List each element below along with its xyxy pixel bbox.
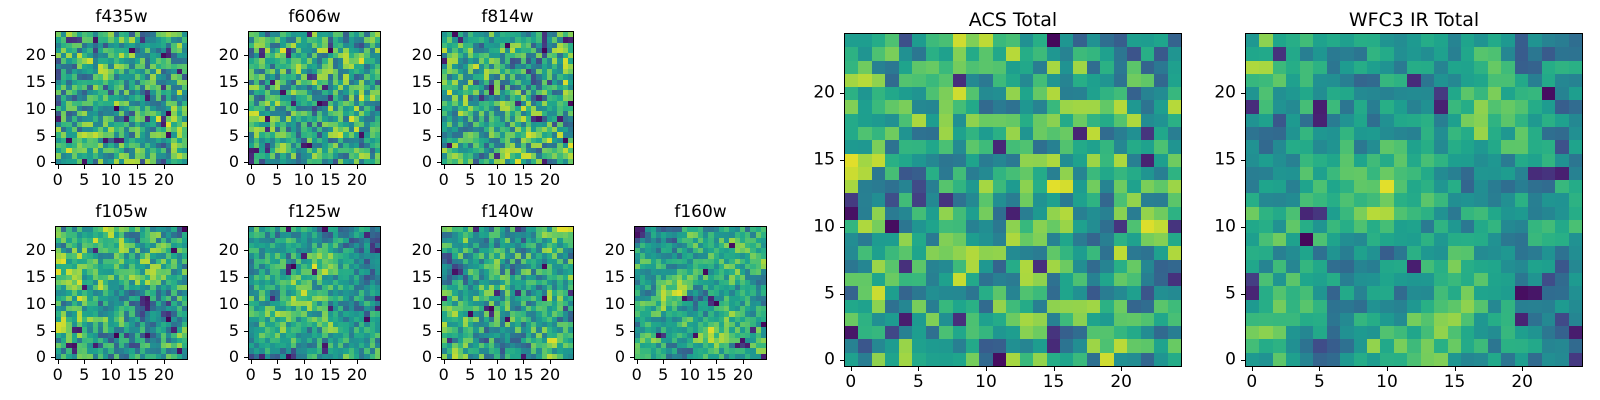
x-tick-label: 15 [127,367,147,383]
x-tick-mark [1252,367,1253,371]
plot-area-f814w [441,31,574,165]
y-tick-label: 5 [196,128,239,144]
plot-area-f160w [634,226,767,360]
y-tick-label: 20 [1193,85,1236,102]
x-tick-mark [918,367,919,371]
y-tick-mark [51,109,55,110]
x-tick-label: 5 [79,172,89,188]
x-tick-mark [690,360,691,364]
panel-f814w: f814w0510152005101520 [389,5,582,195]
y-tick-label: 0 [196,349,239,365]
y-tick-label: 10 [1193,218,1236,235]
y-tick-label: 20 [196,242,239,258]
y-tick-mark [1241,294,1245,295]
heatmap-grid [56,32,187,164]
x-tick-mark [986,367,987,371]
heatmap-grid [442,227,573,359]
y-tick-mark [437,304,441,305]
y-tick-mark [51,55,55,56]
y-tick-label: 15 [1193,151,1236,168]
x-tick-mark [357,165,358,169]
y-tick-mark [630,304,634,305]
panel-wfc3-ir-total: WFC3 IR Total0510152005101520 [1193,7,1591,397]
x-tick-mark [1522,367,1523,371]
plot-area-wfc3-ir-total [1245,33,1583,367]
x-tick-label: 20 [1110,374,1132,391]
x-tick-mark [470,360,471,364]
y-tick-mark [244,82,248,83]
y-tick-label: 0 [389,349,432,365]
y-tick-mark [1241,227,1245,228]
y-tick-mark [1241,93,1245,94]
x-tick-label: 5 [465,367,475,383]
x-tick-label: 10 [101,172,121,188]
y-tick-mark [51,357,55,358]
x-tick-label: 5 [272,172,282,188]
x-tick-label: 0 [1246,374,1257,391]
panel-f435w: f435w0510152005101520 [3,5,196,195]
y-tick-label: 0 [582,349,625,365]
x-tick-label: 0 [53,172,63,188]
x-tick-mark [1121,367,1122,371]
panel-title-f105w: f105w [55,204,188,221]
y-tick-mark [437,109,441,110]
x-tick-mark [1387,367,1388,371]
y-tick-label: 10 [3,296,46,312]
x-tick-mark [523,360,524,364]
x-tick-label: 0 [246,367,256,383]
y-tick-label: 5 [389,128,432,144]
heatmap-grid [635,227,766,359]
plot-area-f435w [55,31,188,165]
x-tick-mark [637,360,638,364]
y-tick-label: 20 [389,242,432,258]
x-tick-label: 0 [439,367,449,383]
x-tick-label: 15 [1444,374,1466,391]
x-tick-mark [304,165,305,169]
y-tick-label: 0 [1193,352,1236,369]
x-tick-mark [1455,367,1456,371]
y-tick-label: 5 [3,323,46,339]
y-tick-mark [51,162,55,163]
x-tick-mark [277,360,278,364]
x-tick-mark [497,360,498,364]
plot-area-f140w [441,226,574,360]
x-tick-label: 15 [513,172,533,188]
x-tick-mark [330,360,331,364]
y-tick-mark [244,250,248,251]
y-tick-label: 5 [1193,285,1236,302]
x-tick-mark [663,360,664,364]
y-tick-mark [244,55,248,56]
x-tick-label: 20 [347,367,367,383]
panel-f105w: f105w0510152005101520 [3,200,196,390]
x-tick-mark [550,360,551,364]
panel-f160w: f160w0510152005101520 [582,200,775,390]
y-tick-mark [51,136,55,137]
y-tick-mark [840,93,844,94]
y-tick-label: 15 [196,269,239,285]
y-tick-mark [437,250,441,251]
y-tick-mark [437,277,441,278]
panel-f606w: f606w0510152005101520 [196,5,389,195]
x-tick-mark [137,360,138,364]
y-tick-label: 0 [792,352,835,369]
panel-title-acs-total: ACS Total [844,11,1182,30]
y-tick-label: 15 [389,269,432,285]
x-tick-label: 0 [246,172,256,188]
y-tick-label: 20 [3,47,46,63]
y-tick-mark [437,55,441,56]
y-tick-label: 15 [3,269,46,285]
x-tick-mark [357,360,358,364]
x-tick-label: 20 [540,367,560,383]
figure-canvas: f435w0510152005101520f606w05101520051015… [0,0,1600,400]
x-tick-label: 20 [154,172,174,188]
x-tick-mark [743,360,744,364]
x-tick-mark [111,360,112,364]
y-tick-mark [51,82,55,83]
x-tick-mark [470,165,471,169]
heatmap-grid [442,32,573,164]
y-tick-label: 15 [196,74,239,90]
y-tick-label: 5 [3,128,46,144]
y-tick-label: 5 [792,285,835,302]
y-tick-label: 20 [792,85,835,102]
y-tick-mark [1241,360,1245,361]
x-tick-mark [251,165,252,169]
heatmap-grid [845,34,1181,366]
heatmap-grid [1246,34,1582,366]
y-tick-mark [244,331,248,332]
panel-f125w: f125w0510152005101520 [196,200,389,390]
x-tick-mark [137,165,138,169]
panel-title-f435w: f435w [55,9,188,26]
plot-area-f606w [248,31,381,165]
x-tick-mark [444,360,445,364]
x-tick-mark [497,165,498,169]
y-tick-label: 10 [389,101,432,117]
x-tick-mark [277,165,278,169]
y-tick-label: 10 [792,218,835,235]
y-tick-mark [244,277,248,278]
x-tick-label: 20 [347,172,367,188]
x-tick-mark [84,165,85,169]
y-tick-mark [630,277,634,278]
y-tick-mark [630,331,634,332]
y-tick-mark [1241,160,1245,161]
y-tick-mark [437,82,441,83]
x-tick-label: 0 [632,367,642,383]
y-tick-mark [437,357,441,358]
y-tick-mark [840,227,844,228]
y-tick-label: 10 [3,101,46,117]
heatmap-grid [249,227,380,359]
x-tick-mark [444,165,445,169]
x-tick-label: 10 [487,172,507,188]
y-tick-label: 10 [196,101,239,117]
x-tick-label: 5 [658,367,668,383]
x-tick-label: 15 [320,172,340,188]
x-tick-label: 15 [513,367,533,383]
plot-area-f105w [55,226,188,360]
y-tick-label: 0 [3,349,46,365]
y-tick-label: 0 [196,154,239,170]
x-tick-mark [523,165,524,169]
y-tick-mark [630,250,634,251]
y-tick-label: 15 [792,151,835,168]
x-tick-label: 15 [127,172,147,188]
y-tick-label: 15 [582,269,625,285]
x-tick-label: 10 [101,367,121,383]
x-tick-label: 5 [913,374,924,391]
x-tick-label: 10 [294,172,314,188]
y-tick-label: 10 [582,296,625,312]
x-tick-label: 10 [487,367,507,383]
y-tick-mark [244,109,248,110]
panel-title-f160w: f160w [634,204,767,221]
y-tick-mark [51,250,55,251]
y-tick-mark [437,162,441,163]
x-tick-mark [550,165,551,169]
y-tick-label: 15 [3,74,46,90]
panel-acs-total: ACS Total0510152005101520 [792,7,1190,397]
x-tick-label: 5 [79,367,89,383]
x-tick-label: 20 [154,367,174,383]
x-tick-label: 20 [540,172,560,188]
heatmap-grid [249,32,380,164]
y-tick-label: 20 [582,242,625,258]
y-tick-mark [840,294,844,295]
plot-area-acs-total [844,33,1182,367]
x-tick-mark [58,360,59,364]
y-tick-label: 5 [582,323,625,339]
x-tick-mark [58,165,59,169]
x-tick-mark [164,360,165,364]
y-tick-mark [630,357,634,358]
x-tick-label: 20 [1511,374,1533,391]
y-tick-mark [840,160,844,161]
y-tick-mark [51,331,55,332]
y-tick-label: 20 [389,47,432,63]
y-tick-label: 5 [389,323,432,339]
y-tick-label: 10 [389,296,432,312]
y-tick-mark [244,304,248,305]
x-tick-label: 15 [706,367,726,383]
panel-title-f125w: f125w [248,204,381,221]
y-tick-mark [51,277,55,278]
y-tick-mark [437,331,441,332]
y-tick-mark [244,357,248,358]
x-tick-mark [330,165,331,169]
x-tick-mark [251,360,252,364]
x-tick-label: 10 [680,367,700,383]
x-tick-label: 0 [439,172,449,188]
x-tick-label: 15 [320,367,340,383]
y-tick-mark [244,162,248,163]
x-tick-label: 5 [465,172,475,188]
y-tick-label: 5 [196,323,239,339]
panel-title-wfc3-ir-total: WFC3 IR Total [1245,11,1583,30]
panel-title-f606w: f606w [248,9,381,26]
x-tick-mark [716,360,717,364]
panel-f140w: f140w0510152005101520 [389,200,582,390]
y-tick-mark [244,136,248,137]
x-tick-label: 0 [53,367,63,383]
plot-area-f125w [248,226,381,360]
x-tick-label: 10 [975,374,997,391]
x-tick-label: 10 [1376,374,1398,391]
x-tick-label: 20 [733,367,753,383]
x-tick-mark [851,367,852,371]
x-tick-label: 15 [1043,374,1065,391]
y-tick-label: 20 [3,242,46,258]
x-tick-label: 10 [294,367,314,383]
x-tick-mark [84,360,85,364]
x-tick-mark [164,165,165,169]
x-tick-label: 0 [845,374,856,391]
x-tick-mark [111,165,112,169]
x-tick-mark [304,360,305,364]
y-tick-label: 0 [3,154,46,170]
x-tick-mark [1319,367,1320,371]
y-tick-mark [437,136,441,137]
y-tick-mark [840,360,844,361]
y-tick-label: 0 [389,154,432,170]
x-tick-label: 5 [272,367,282,383]
panel-title-f140w: f140w [441,204,574,221]
y-tick-mark [51,304,55,305]
y-tick-label: 20 [196,47,239,63]
x-tick-mark [1054,367,1055,371]
x-tick-label: 5 [1314,374,1325,391]
heatmap-grid [56,227,187,359]
panel-title-f814w: f814w [441,9,574,26]
y-tick-label: 10 [196,296,239,312]
y-tick-label: 15 [389,74,432,90]
